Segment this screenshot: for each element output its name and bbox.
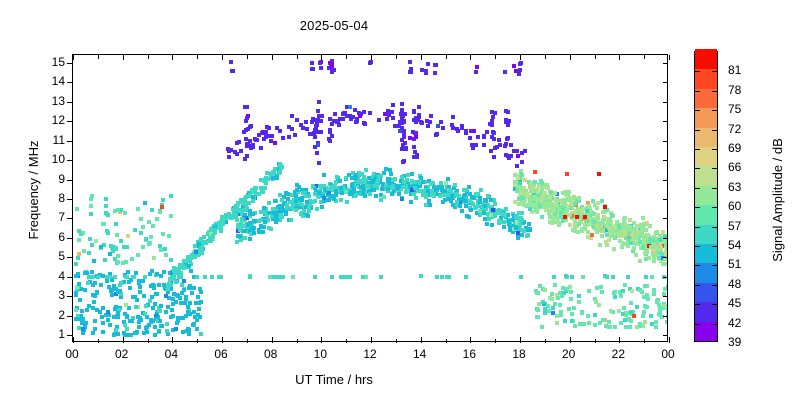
y-tick-right <box>663 63 668 64</box>
scatter-marker <box>255 138 259 142</box>
scatter-marker <box>412 109 416 113</box>
scatter-marker <box>385 117 389 121</box>
scatter-marker <box>202 235 206 239</box>
scatter-marker <box>92 259 96 263</box>
scatter-marker <box>498 143 502 147</box>
scatter-marker <box>464 199 468 203</box>
scatter-marker <box>663 239 667 243</box>
scatter-marker <box>613 295 617 299</box>
scatter-marker <box>328 130 332 134</box>
y-tick-label: 9 <box>39 173 65 185</box>
scatter-marker <box>570 319 574 323</box>
scatter-marker <box>581 275 585 279</box>
scatter-marker <box>182 266 186 270</box>
scatter-marker <box>611 275 615 279</box>
scatter-marker <box>104 204 108 208</box>
y-tick <box>67 316 73 317</box>
scatter-marker <box>196 295 200 299</box>
scatter-marker <box>248 237 252 241</box>
x-tick <box>570 337 571 343</box>
scatter-marker <box>393 177 397 181</box>
scatter-marker <box>101 321 105 325</box>
scatter-marker <box>74 308 78 312</box>
scatter-marker <box>627 317 631 321</box>
y-tick <box>67 82 73 83</box>
colorbar-tick <box>695 110 700 111</box>
scatter-marker <box>313 118 317 122</box>
scatter-marker <box>630 289 634 293</box>
scatter-marker <box>507 222 511 226</box>
scatter-marker <box>190 291 194 295</box>
scatter-marker <box>412 145 416 149</box>
scatter-marker <box>666 309 667 313</box>
scatter-marker <box>262 137 266 141</box>
scatter-marker <box>138 290 142 294</box>
scatter-marker <box>408 136 412 140</box>
scatter-marker <box>235 218 239 222</box>
scatter-marker <box>284 191 288 195</box>
x-tick-top <box>619 55 620 60</box>
scatter-marker <box>322 196 326 200</box>
scatter-marker <box>90 270 94 274</box>
scatter-marker <box>600 290 604 294</box>
scatter-marker <box>311 200 315 204</box>
scatter-marker <box>628 218 632 222</box>
scatter-marker <box>138 285 142 289</box>
scatter-marker <box>337 123 341 127</box>
x-axis-title: UT Time / hrs <box>0 372 668 387</box>
x-tick <box>470 337 471 343</box>
scatter-marker <box>497 138 501 142</box>
scatter-marker <box>597 172 601 176</box>
scatter-marker <box>651 252 655 256</box>
scatter-marker <box>265 125 269 129</box>
x-tick-top <box>570 55 571 60</box>
scatter-marker <box>124 303 128 307</box>
scatter-marker <box>391 186 395 190</box>
scatter-marker <box>518 223 522 227</box>
scatter-marker <box>263 220 267 224</box>
scatter-marker <box>106 318 110 322</box>
scatter-marker <box>169 194 173 198</box>
scatter-marker <box>76 256 80 260</box>
scatter-marker <box>252 219 256 223</box>
scatter-marker <box>259 146 263 150</box>
scatter-marker <box>139 231 143 235</box>
scatter-marker <box>290 206 294 210</box>
colorbar-tick-right <box>712 168 717 169</box>
scatter-marker <box>188 301 192 305</box>
scatter-marker <box>317 100 321 104</box>
x-minor-tick-top <box>197 55 198 59</box>
scatter-marker <box>551 306 555 310</box>
scatter-marker <box>474 70 478 74</box>
scatter-marker <box>617 234 621 238</box>
scatter-marker <box>105 279 109 283</box>
scatter-marker <box>281 136 285 140</box>
scatter-marker <box>634 253 638 257</box>
scatter-marker <box>138 316 142 320</box>
scatter-marker <box>160 324 164 328</box>
scatter-marker <box>652 235 656 239</box>
colorbar-tick-label: 57 <box>728 220 752 232</box>
scatter-marker <box>492 155 496 159</box>
y-tick-label: 10 <box>39 153 65 165</box>
scatter-marker <box>565 172 569 176</box>
scatter-marker <box>175 293 179 297</box>
scatter-marker <box>434 63 438 67</box>
scatter-marker <box>116 208 120 212</box>
scatter-marker <box>432 193 436 197</box>
scatter-marker <box>180 283 184 287</box>
scatter-marker <box>491 130 495 134</box>
scatter-marker <box>318 61 322 65</box>
scatter-marker <box>83 288 87 292</box>
scatter-marker <box>81 327 85 331</box>
scatter-marker <box>311 67 315 71</box>
scatter-marker <box>77 252 81 256</box>
scatter-marker <box>635 305 639 309</box>
scatter-marker <box>187 257 191 261</box>
colorbar-tick-right <box>712 130 717 131</box>
scatter-marker <box>311 184 315 188</box>
scatter-marker <box>532 195 536 199</box>
scatter-marker <box>338 179 342 183</box>
scatter-marker <box>244 137 248 141</box>
y-tick-label: 13 <box>39 95 65 107</box>
scatter-marker <box>243 157 247 161</box>
scatter-marker <box>211 234 215 238</box>
scatter-marker <box>526 233 530 237</box>
scatter-marker <box>630 233 634 237</box>
scatter-marker <box>195 327 199 331</box>
x-tick-label: 04 <box>151 348 191 360</box>
scatter-marker <box>125 315 129 319</box>
x-tick <box>321 337 322 343</box>
scatter-marker <box>628 325 632 329</box>
scatter-marker <box>478 196 482 200</box>
scatter-marker <box>522 203 526 207</box>
y-tick-label: 7 <box>39 211 65 223</box>
scatter-marker <box>558 303 562 307</box>
scatter-marker <box>130 319 134 323</box>
x-tick-top <box>669 55 670 60</box>
y-axis-title: Frequency / MHz <box>26 90 41 290</box>
scatter-marker <box>644 228 648 232</box>
scatter-marker <box>290 114 294 118</box>
scatter-marker <box>251 199 255 203</box>
scatter-marker <box>356 180 360 184</box>
scatter-marker <box>357 111 361 115</box>
y-tick-label: 8 <box>39 192 65 204</box>
scatter-marker <box>200 247 204 251</box>
scatter-marker <box>157 329 161 333</box>
scatter-marker <box>91 331 95 335</box>
scatter-marker <box>638 259 642 263</box>
scatter-marker <box>445 193 449 197</box>
scatter-marker <box>622 306 626 310</box>
scatter-marker <box>353 108 357 112</box>
x-minor-tick <box>545 339 546 343</box>
scatter-marker <box>426 189 430 193</box>
colorbar-tick-right <box>712 246 717 247</box>
x-minor-tick-top <box>148 55 149 59</box>
scatter-marker <box>354 173 358 177</box>
scatter-marker <box>411 192 415 196</box>
scatter-marker <box>164 294 168 298</box>
scatter-marker <box>159 274 163 278</box>
scatter-marker <box>143 275 147 279</box>
scatter-marker <box>313 145 317 149</box>
scatter-marker <box>626 275 630 279</box>
scatter-marker <box>489 198 493 202</box>
scatter-marker <box>414 196 418 200</box>
scatter-marker <box>99 283 103 287</box>
scatter-marker <box>194 250 198 254</box>
scatter-marker <box>550 292 554 296</box>
scatter-marker <box>364 168 368 172</box>
scatter-marker <box>522 186 526 190</box>
scatter-marker <box>611 234 615 238</box>
scatter-marker <box>331 194 335 198</box>
scatter-marker <box>654 325 658 329</box>
y-tick <box>67 160 73 161</box>
scatter-marker <box>322 184 326 188</box>
y-tick-label: 14 <box>39 75 65 87</box>
scatter-marker <box>95 290 99 294</box>
scatter-marker <box>425 119 429 123</box>
scatter-marker <box>386 187 390 191</box>
scatter-marker <box>626 244 630 248</box>
scatter-marker <box>143 312 147 316</box>
scatter-marker <box>544 183 548 187</box>
scatter-marker <box>175 321 179 325</box>
scatter-marker <box>144 237 148 241</box>
scatter-marker <box>334 180 338 184</box>
scatter-marker <box>361 275 365 279</box>
scatter-marker <box>154 292 158 296</box>
scatter-marker <box>458 204 462 208</box>
scatter-marker <box>520 151 524 155</box>
scatter-marker <box>609 309 613 313</box>
scatter-marker <box>123 211 127 215</box>
scatter-marker <box>509 143 513 147</box>
scatter-marker <box>137 325 141 329</box>
scatter-marker <box>632 314 636 318</box>
scatter-marker <box>180 291 184 295</box>
scatter-marker <box>665 320 667 324</box>
scatter-marker <box>629 301 633 305</box>
scatter-marker <box>550 205 554 209</box>
scatter-marker <box>451 203 455 207</box>
colorbar-tick-right <box>712 110 717 111</box>
scatter-marker <box>400 138 404 142</box>
scatter-marker <box>655 230 659 234</box>
scatter-marker <box>158 309 162 313</box>
scatter-marker <box>87 251 91 255</box>
scatter-marker <box>87 275 91 279</box>
scatter-marker <box>269 139 273 143</box>
x-minor-tick <box>197 339 198 343</box>
scatter-marker <box>245 116 249 120</box>
scatter-marker <box>158 319 162 323</box>
scatter-marker <box>570 275 574 279</box>
scatter-marker <box>379 174 383 178</box>
scatter-marker <box>475 65 479 69</box>
x-tick <box>669 337 670 343</box>
scatter-marker <box>164 253 168 257</box>
colorbar-tick-right <box>712 71 717 72</box>
scatter-marker <box>390 110 394 114</box>
scatter-marker <box>150 208 154 212</box>
scatter-marker <box>577 294 581 298</box>
scatter-layer <box>73 55 667 341</box>
scatter-marker <box>134 305 138 309</box>
scatter-marker <box>122 245 126 249</box>
scatter-marker <box>158 210 162 214</box>
scatter-marker <box>243 236 247 240</box>
scatter-marker <box>285 205 289 209</box>
y-tick <box>67 102 73 103</box>
colorbar-tick-label: 60 <box>728 200 752 212</box>
scatter-marker <box>624 313 628 317</box>
scatter-marker <box>94 239 98 243</box>
scatter-marker <box>327 137 331 141</box>
scatter-marker <box>607 220 611 224</box>
scatter-marker <box>541 300 545 304</box>
x-minor-tick <box>644 339 645 343</box>
scatter-marker <box>641 314 645 318</box>
scatter-marker <box>515 164 519 168</box>
scatter-marker <box>320 205 324 209</box>
scatter-marker <box>658 242 662 246</box>
x-tick <box>619 337 620 343</box>
x-tick-top <box>123 55 124 60</box>
y-tick-right <box>663 121 668 122</box>
scatter-marker <box>565 191 569 195</box>
scatter-marker <box>638 240 642 244</box>
colorbar-tick-label: 69 <box>728 142 752 154</box>
scatter-marker <box>424 69 428 73</box>
scatter-marker <box>519 275 523 279</box>
scatter-marker <box>391 116 395 120</box>
y-tick <box>67 296 73 297</box>
scatter-marker <box>563 319 567 323</box>
scatter-marker <box>400 108 404 112</box>
scatter-marker <box>521 196 525 200</box>
scatter-marker <box>533 170 537 174</box>
scatter-marker <box>578 322 582 326</box>
x-tick-label: 00 <box>648 348 688 360</box>
scatter-marker <box>408 70 412 74</box>
scatter-marker <box>174 327 178 331</box>
scatter-marker <box>315 151 319 155</box>
scatter-marker <box>335 175 339 179</box>
scatter-marker <box>85 308 89 312</box>
scatter-marker <box>163 247 167 251</box>
scatter-marker <box>330 275 334 279</box>
scatter-marker <box>179 275 183 279</box>
scatter-marker <box>561 219 565 223</box>
scatter-marker <box>287 135 291 139</box>
scatter-marker <box>563 215 567 219</box>
x-minor-tick <box>148 339 149 343</box>
scatter-marker <box>104 197 108 201</box>
scatter-marker <box>485 222 489 226</box>
scatter-marker <box>650 322 654 326</box>
scatter-marker <box>388 168 392 172</box>
y-tick <box>67 121 73 122</box>
scatter-marker <box>472 129 476 133</box>
x-minor-tick-top <box>396 55 397 59</box>
scatter-marker <box>185 329 189 333</box>
scatter-marker <box>186 305 190 309</box>
scatter-marker <box>645 284 649 288</box>
y-tick-label: 15 <box>39 56 65 68</box>
scatter-marker <box>160 205 164 209</box>
scatter-marker <box>289 218 293 222</box>
scatter-marker <box>424 203 428 207</box>
scatter-marker <box>590 233 594 237</box>
scatter-marker <box>286 197 290 201</box>
scatter-marker <box>237 140 241 144</box>
scatter-marker <box>196 313 200 317</box>
scatter-marker <box>506 154 510 158</box>
scatter-marker <box>167 234 171 238</box>
scatter-marker <box>142 294 146 298</box>
scatter-marker <box>512 64 516 68</box>
colorbar-tick-right <box>712 265 717 266</box>
scatter-marker <box>151 306 155 310</box>
scatter-marker <box>414 135 418 139</box>
y-tick <box>67 141 73 142</box>
scatter-marker <box>195 275 199 279</box>
scatter-marker <box>402 133 406 137</box>
scatter-marker <box>538 284 542 288</box>
scatter-marker <box>613 225 617 229</box>
scatter-marker <box>121 261 125 265</box>
x-tick-label: 12 <box>350 348 390 360</box>
x-tick <box>272 337 273 343</box>
scatter-marker <box>440 188 444 192</box>
scatter-marker <box>301 191 305 195</box>
scatter-marker <box>619 294 623 298</box>
scatter-marker <box>274 212 278 216</box>
scatter-marker <box>482 134 486 138</box>
scatter-marker <box>261 230 265 234</box>
scatter-marker <box>649 314 653 318</box>
x-minor-tick <box>396 339 397 343</box>
y-tick-right <box>663 335 668 336</box>
scatter-marker <box>155 217 159 221</box>
x-minor-tick-top <box>644 55 645 59</box>
scatter-marker <box>350 183 354 187</box>
scatter-marker <box>88 237 92 241</box>
scatter-marker <box>273 199 277 203</box>
scatter-marker <box>397 184 401 188</box>
scatter-marker <box>268 275 272 279</box>
scatter-marker <box>617 309 621 313</box>
scatter-marker <box>577 300 581 304</box>
scatter-marker <box>504 142 508 146</box>
scatter-marker <box>647 256 651 260</box>
scatter-marker <box>586 314 590 318</box>
x-tick-label: 22 <box>598 348 638 360</box>
colorbar-tick-label: 78 <box>728 84 752 96</box>
scatter-marker <box>114 222 118 226</box>
scatter-marker <box>355 119 359 123</box>
scatter-marker <box>153 302 157 306</box>
